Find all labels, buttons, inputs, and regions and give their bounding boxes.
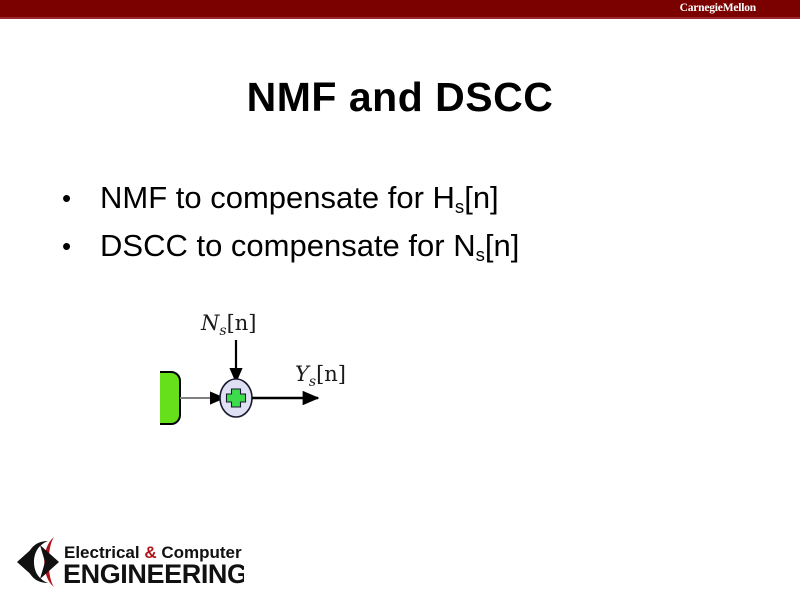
bullet-marker-icon: • — [62, 174, 100, 222]
list-item: • NMF to compensate for Hs[n] — [62, 174, 722, 222]
noise-label-brackets: [n] — [227, 311, 257, 335]
block-diagram: Ns[n] Xs[n] Hs[n] Ys[n] — [160, 296, 560, 446]
bullet-text: NMF to compensate for Hs[n] — [100, 174, 499, 226]
bullet-list: • NMF to compensate for Hs[n] • DSCC to … — [62, 174, 722, 270]
bullet-marker-icon: • — [62, 222, 100, 270]
slide-canvas: CarnegieMellon NMF and DSCC • NMF to com… — [0, 0, 800, 599]
bullet-text-prefix: NMF to compensate for H — [100, 180, 455, 215]
noise-label-sub: s — [219, 323, 226, 339]
noise-source-label: Ns[n] — [200, 311, 256, 339]
system-block — [160, 372, 180, 424]
output-label-sub: s — [309, 374, 316, 390]
header-banner-underline — [0, 17, 800, 19]
ece-logo-line2: ENGINEERING — [63, 559, 244, 589]
bullet-text-prefix: DSCC to compensate for N — [100, 228, 476, 263]
bullet-text-subscript: s — [455, 196, 464, 217]
bullet-text: DSCC to compensate for Ns[n] — [100, 222, 519, 274]
bullet-text-suffix: [n] — [464, 180, 498, 215]
ece-logo: Electrical & Computer ENGINEERING — [14, 531, 244, 593]
output-label-brackets: [n] — [316, 362, 346, 386]
carnegie-mellon-wordmark: CarnegieMellon — [680, 1, 756, 16]
list-item: • DSCC to compensate for Ns[n] — [62, 222, 722, 270]
page-title: NMF and DSCC — [0, 74, 800, 121]
bullet-text-subscript: s — [476, 244, 485, 265]
ece-logo-svg: Electrical & Computer ENGINEERING — [14, 531, 244, 593]
output-signal-label: Ys[n] — [295, 362, 346, 390]
bullet-text-suffix: [n] — [485, 228, 519, 263]
noise-label-base: N — [200, 311, 220, 335]
block-diagram-svg: Ns[n] Xs[n] Hs[n] Ys[n] — [160, 296, 560, 446]
